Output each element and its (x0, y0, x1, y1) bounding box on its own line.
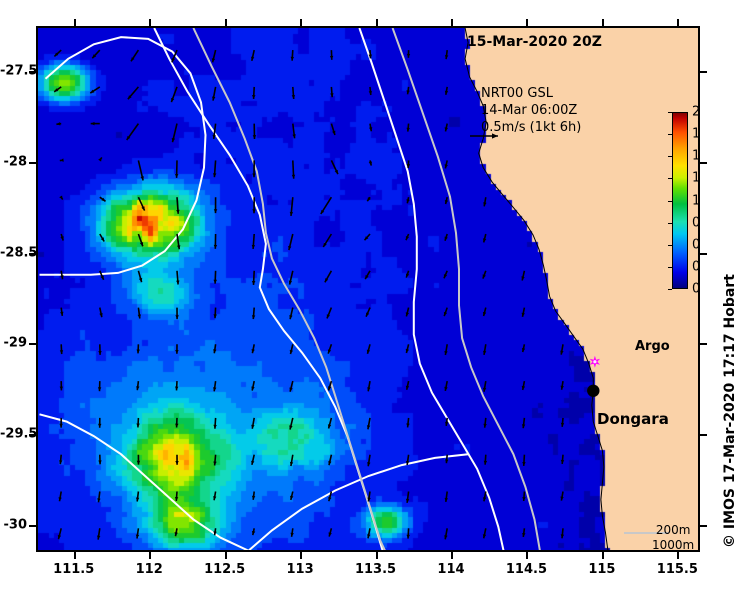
current-vector-head (98, 460, 101, 464)
map-vector-overlay (38, 28, 700, 552)
current-vector-head (171, 98, 174, 102)
colorbar-tick-label: 0 (692, 282, 700, 297)
velocity-legend-source: NRT00 GSL (481, 85, 581, 102)
colorbar-tick-label: 0.5 (692, 237, 700, 252)
current-vector-head (214, 209, 218, 213)
current-vector-head (98, 424, 101, 428)
current-vector-head (407, 535, 410, 539)
x-tick-label: 113 (287, 562, 314, 577)
velocity-legend-time: 14-Mar 06:00Z (481, 102, 581, 119)
current-vector-head (214, 280, 218, 284)
x-tick-mark-top (225, 19, 227, 26)
current-vector-head (328, 349, 331, 353)
contour-1000m-eddy (40, 37, 206, 275)
current-vector-head (175, 174, 178, 178)
current-vector-head (175, 350, 178, 354)
current-vector-head (252, 281, 256, 285)
current-vector-head (291, 57, 294, 61)
map-raster-layer (38, 28, 698, 550)
colorbar-gradient (672, 112, 688, 289)
colorbar-tick-mark (668, 178, 672, 179)
x-tick-mark (677, 552, 679, 559)
current-vector-head (292, 175, 295, 179)
y-tick-label: -28.5 (0, 245, 27, 260)
current-vector-head (328, 386, 331, 390)
x-tick-mark-top (74, 19, 76, 26)
current-vector-head (213, 425, 216, 429)
colorbar-tick-label: 0.75 (692, 215, 700, 230)
current-vector-head (483, 274, 486, 278)
dongara-city-label: Dongara (597, 410, 669, 428)
current-vector-head (330, 93, 333, 97)
colorbar-tick-mark (668, 245, 672, 246)
y-tick-mark-right (700, 434, 707, 436)
depth-legend-1000m: 1000m (652, 538, 694, 552)
colorbar-tick-label: 1.75 (692, 127, 700, 142)
y-tick-mark-right (700, 162, 707, 164)
current-vector-head (561, 460, 564, 464)
y-tick-label: -27.5 (0, 64, 27, 79)
figure-canvas: 15-Mar-2020 20Z NRT00 GSL 14-Mar 06:00Z … (0, 0, 739, 592)
colorbar-tick-mark (668, 134, 672, 135)
y-tick-mark (29, 525, 36, 527)
x-tick-label: 114 (437, 562, 464, 577)
current-vector-head (214, 314, 217, 318)
x-tick-mark-top (300, 19, 302, 26)
y-tick-label: -30 (0, 517, 27, 532)
y-tick-mark (29, 71, 36, 73)
current-vector-head (330, 56, 333, 60)
current-vector-head (176, 210, 179, 214)
current-vector-head (140, 242, 143, 246)
colorbar-tick-mark (668, 223, 672, 224)
colorbar-tick-mark (668, 112, 672, 113)
x-tick-mark-top (677, 19, 679, 26)
x-tick-mark-top (376, 19, 378, 26)
y-tick-mark-right (700, 71, 707, 73)
current-vector-head (253, 135, 257, 139)
velocity-legend: NRT00 GSL 14-Mar 06:00Z 0.5m/s (1kt 6h) (481, 85, 581, 136)
current-vector-head (137, 461, 141, 465)
argo-float-marker-center (593, 360, 596, 363)
dongara-city-marker[interactable] (587, 385, 599, 397)
current-vector-head (60, 350, 63, 354)
argo-marker-label: Argo (635, 339, 670, 354)
current-vector-head (60, 236, 63, 240)
map-plot-area[interactable]: 15-Mar-2020 20Z NRT00 GSL 14-Mar 06:00Z … (36, 26, 700, 552)
current-vector-head (214, 245, 217, 249)
current-vector-head (407, 54, 410, 58)
colorbar-tick-label: 2 (692, 105, 700, 120)
current-vector-head (522, 462, 525, 466)
contour-200m-inner (193, 28, 386, 552)
x-tick-mark (602, 552, 604, 559)
x-tick-mark (376, 552, 378, 559)
contour-1000m-southeast (245, 454, 468, 552)
y-tick-mark-right (700, 343, 707, 345)
x-tick-mark (526, 552, 528, 559)
current-vector-head (292, 95, 295, 99)
current-vector-head (444, 312, 447, 316)
x-tick-label: 115 (588, 562, 615, 577)
colorbar-tick-label: 1.5 (692, 149, 700, 164)
current-vector-head (175, 424, 178, 428)
y-tick-label: -28 (0, 155, 27, 170)
x-tick-label: 115.5 (657, 562, 698, 577)
current-vector-head (175, 387, 178, 391)
y-tick-label: -29.5 (0, 427, 27, 442)
current-vector-head (484, 461, 487, 465)
y-tick-mark (29, 253, 36, 255)
current-vector-head (60, 387, 63, 391)
current-vector-head (406, 274, 409, 278)
contour-1000m-shelf (154, 28, 383, 552)
colorbar-tick-mark (668, 156, 672, 157)
current-vector-head (252, 209, 255, 213)
current-vector-head (332, 131, 335, 135)
current-vector-head (252, 315, 255, 319)
current-vector-head (561, 423, 564, 427)
colorbar-tick-mark (668, 267, 672, 268)
current-vector-head (98, 387, 101, 391)
x-tick-mark-top (526, 19, 528, 26)
colorbar-tick-label: 0.25 (692, 259, 700, 274)
contour-1000m-south (40, 414, 248, 550)
x-tick-mark (451, 552, 453, 559)
depth-contour-legend: 200m 1000m (652, 523, 694, 552)
depth-legend-200m: 200m (652, 523, 694, 538)
current-vector-head (522, 497, 525, 501)
y-tick-label: -29 (0, 336, 27, 351)
current-vector-head (98, 157, 102, 161)
current-vector-head (176, 281, 179, 285)
current-vector-head (252, 245, 255, 249)
colorbar-tick-mark (668, 201, 672, 202)
colorbar-tick-mark (668, 289, 672, 290)
y-tick-mark-right (700, 525, 707, 527)
current-vector-head (252, 95, 256, 99)
current-vector-head (59, 196, 63, 200)
y-tick-mark (29, 162, 36, 164)
current-vector-head (136, 424, 139, 428)
current-vector-head (445, 237, 448, 241)
current-vector-head (175, 315, 178, 319)
colorbar-tick-label: 1 (692, 193, 700, 208)
x-tick-mark-top (602, 19, 604, 26)
current-vector-head (98, 351, 101, 355)
current-vector-head (91, 122, 95, 126)
x-tick-label: 112 (136, 562, 163, 577)
colorbar: 00.250.50.7511.251.51.752 (672, 112, 688, 289)
x-tick-label: 112.5 (204, 562, 245, 577)
x-tick-mark-top (149, 19, 151, 26)
x-tick-mark-top (451, 19, 453, 26)
y-tick-mark-right (700, 253, 707, 255)
y-tick-mark (29, 434, 36, 436)
current-vector-head (252, 174, 255, 178)
velocity-legend-scale: 0.5m/s (1kt 6h) (481, 119, 581, 136)
x-tick-mark (149, 552, 151, 559)
current-vector-head (175, 461, 178, 465)
x-tick-mark (74, 552, 76, 559)
x-tick-label: 114.5 (506, 562, 547, 577)
x-tick-label: 113.5 (355, 562, 396, 577)
current-vector-head (137, 350, 140, 354)
y-tick-mark (29, 343, 36, 345)
copyright-notice: © IMOS 17-Mar-2020 17:17 Hobart (722, 274, 738, 548)
current-vector-head (59, 424, 62, 428)
x-tick-label: 111.5 (53, 562, 94, 577)
current-vector-head (213, 173, 216, 177)
colorbar-tick-label: 1.25 (692, 171, 700, 186)
x-tick-mark (225, 552, 227, 559)
map-title: 15-Mar-2020 20Z (467, 34, 602, 50)
x-tick-mark (300, 552, 302, 559)
current-vector-head (175, 497, 178, 501)
